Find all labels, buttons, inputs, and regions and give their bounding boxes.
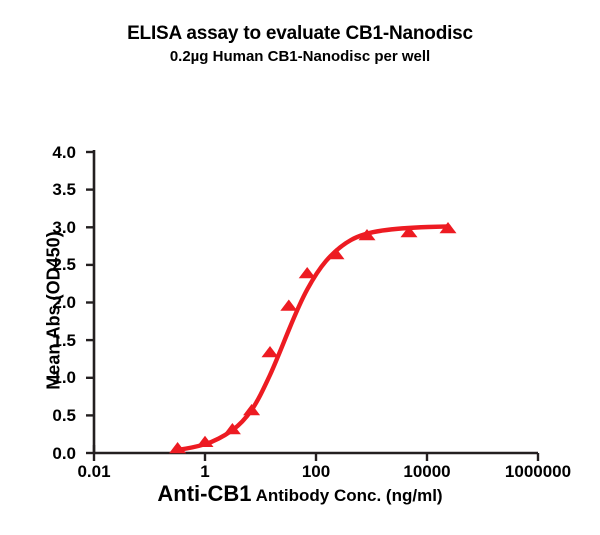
elisa-assay-chart-figure: ELISA assay to evaluate CB1-Nanodisc 0.2… [0, 0, 600, 535]
x-tick-label: 10000 [377, 463, 477, 480]
plot-area [0, 0, 600, 535]
y-tick-label: 4.0 [24, 144, 76, 161]
fit-curve [178, 226, 449, 450]
data-point-marker [243, 404, 260, 415]
y-axis-title: Mean Abs.(OD450) [44, 161, 65, 461]
x-tick-label: 100 [266, 463, 366, 480]
x-axis-title: Anti-CB1 Antibody Conc. (ng/ml) [0, 481, 600, 507]
data-point-markers [169, 222, 456, 453]
x-axis-title-rest: Antibody Conc. (ng/ml) [252, 486, 443, 505]
x-tick-label: 0.01 [44, 463, 144, 480]
x-tick-label: 1000000 [483, 463, 593, 480]
data-point-marker [299, 267, 316, 278]
data-point-marker [262, 346, 279, 357]
data-point-marker [280, 300, 297, 311]
x-tick-label: 1 [155, 463, 255, 480]
x-axis-title-emphasis: Anti-CB1 [157, 481, 251, 506]
